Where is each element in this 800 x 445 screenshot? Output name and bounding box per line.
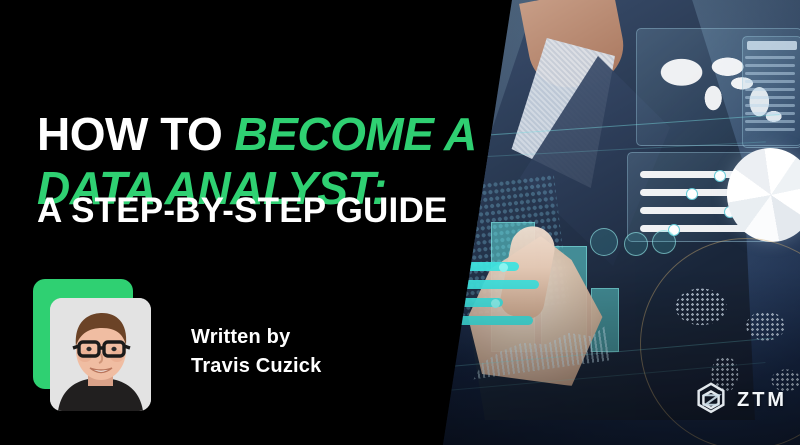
avatar-portrait-icon xyxy=(50,298,151,411)
byline: Written by Travis Cuzick xyxy=(191,323,321,381)
title-line1-plain: HOW TO xyxy=(37,108,235,160)
blog-header-banner: ZTM HOW TO BECOME ADATA ANALYST: A STEP-… xyxy=(0,0,800,445)
cyan-slider-knob xyxy=(457,281,466,290)
written-by-label: Written by xyxy=(191,323,321,352)
page-subtitle: A STEP-BY-STEP GUIDE xyxy=(37,190,497,232)
title-line1-accent: BECOME A xyxy=(235,108,477,160)
cyan-slider-knob xyxy=(441,317,450,326)
author-name: Travis Cuzick xyxy=(191,352,321,381)
author-block: Written by Travis Cuzick xyxy=(33,279,373,414)
ztm-hexagon-icon xyxy=(692,381,730,419)
ztm-logo-text: ZTM xyxy=(737,389,787,412)
avatar-photo xyxy=(50,298,151,411)
ztm-logo[interactable]: ZTM xyxy=(692,381,787,419)
avatar xyxy=(33,279,151,411)
